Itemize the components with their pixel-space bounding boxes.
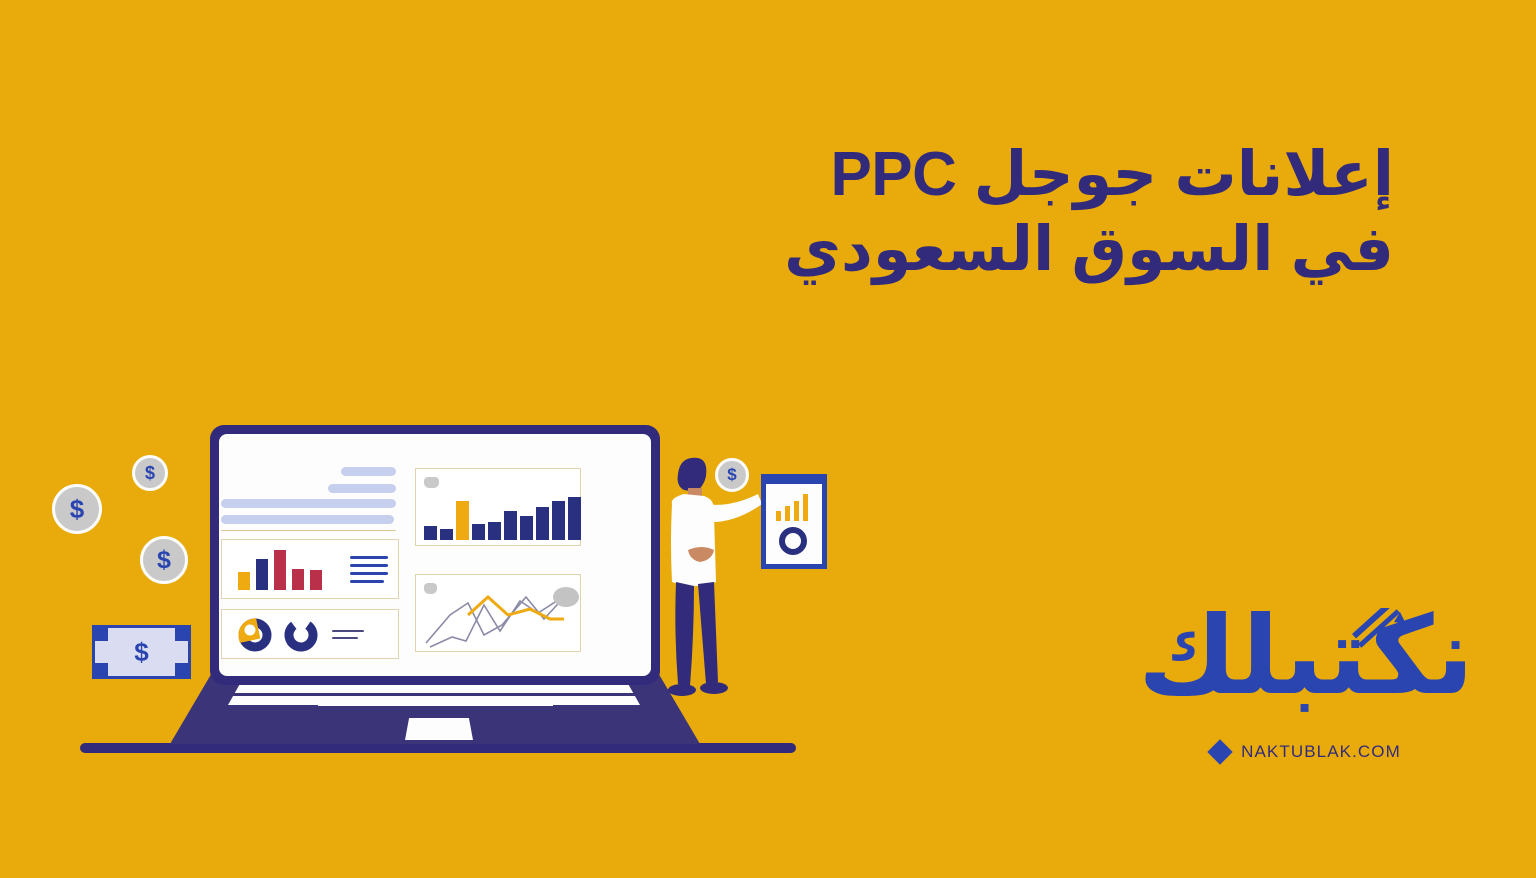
leg-left bbox=[675, 582, 694, 686]
text-line bbox=[328, 484, 396, 493]
diamond-bullet-icon bbox=[1207, 739, 1232, 764]
bar bbox=[552, 501, 565, 540]
shoe-right bbox=[700, 682, 728, 694]
bar bbox=[424, 526, 437, 540]
laptop-trackpad bbox=[405, 718, 473, 740]
leg-right bbox=[698, 582, 718, 684]
bar bbox=[488, 522, 501, 540]
person-illustration bbox=[660, 452, 770, 712]
column-chart-plot bbox=[422, 478, 576, 540]
bar bbox=[785, 506, 790, 521]
shoe-left bbox=[668, 684, 696, 696]
bar bbox=[238, 572, 250, 590]
small-bar-chart-plot bbox=[238, 550, 322, 590]
bar bbox=[274, 550, 286, 590]
donut-pair-panel[interactable] bbox=[221, 609, 399, 659]
donut-chart-1 bbox=[238, 618, 272, 652]
bar bbox=[456, 501, 469, 540]
bar bbox=[292, 569, 304, 590]
coin-floating-person: $ bbox=[715, 458, 749, 492]
laptop-lid bbox=[210, 425, 660, 685]
logo-tagline: NAKTUBLAK.COM bbox=[1241, 742, 1401, 762]
banknote-symbol: $ bbox=[134, 637, 148, 668]
bar bbox=[310, 570, 322, 590]
bar bbox=[520, 516, 533, 540]
trend-line-chart-panel[interactable] bbox=[415, 574, 581, 652]
bar bbox=[794, 501, 799, 521]
bar bbox=[472, 524, 485, 540]
logo-wordmark: نكتبلك bbox=[1136, 596, 1476, 721]
coin-symbol: $ bbox=[727, 465, 736, 485]
bar bbox=[536, 507, 549, 540]
coin-large-left: $ bbox=[52, 484, 102, 534]
laptop-keyboard-line bbox=[232, 693, 636, 696]
coin-small-top: $ bbox=[132, 455, 168, 491]
coin-symbol: $ bbox=[157, 546, 171, 575]
logo-tagline-row: NAKTUBLAK.COM bbox=[1136, 742, 1476, 762]
text-line bbox=[341, 467, 396, 476]
small-bar-chart-panel[interactable] bbox=[221, 539, 399, 599]
coin-symbol: $ bbox=[145, 463, 155, 484]
coin-mid-right: $ bbox=[140, 536, 188, 584]
divider bbox=[221, 530, 396, 531]
page-title: إعلانات جوجل PPC في السوق السعودي bbox=[694, 138, 1394, 286]
page-title-line-1: إعلانات جوجل PPC bbox=[694, 138, 1394, 211]
bar bbox=[504, 511, 517, 540]
bar bbox=[803, 494, 808, 521]
ppc-banner: إعلانات جوجل PPC في السوق السعودي نكتبلك… bbox=[0, 0, 1536, 878]
arm bbox=[704, 494, 762, 522]
coin-symbol: $ bbox=[70, 494, 84, 525]
donut-chart-2 bbox=[284, 618, 318, 652]
text-line bbox=[221, 499, 396, 508]
bar bbox=[440, 529, 453, 540]
trend-line-chart-plot bbox=[416, 575, 582, 653]
column-chart-panel[interactable] bbox=[415, 468, 581, 546]
logo-wordmark-text: نكتبلك bbox=[1138, 594, 1474, 719]
hair bbox=[678, 458, 707, 492]
ground-shadow-line bbox=[80, 743, 796, 753]
bar bbox=[776, 511, 781, 521]
brand-logo[interactable]: نكتبلك NAKTUBLAK.COM bbox=[1136, 596, 1476, 786]
text-line bbox=[221, 515, 394, 524]
bar bbox=[568, 497, 581, 540]
tablet-illustration[interactable] bbox=[760, 473, 828, 570]
bar bbox=[256, 559, 268, 590]
laptop-screen bbox=[219, 434, 651, 676]
page-title-line-2: في السوق السعودي bbox=[694, 213, 1394, 286]
banknote: $ bbox=[92, 625, 191, 679]
